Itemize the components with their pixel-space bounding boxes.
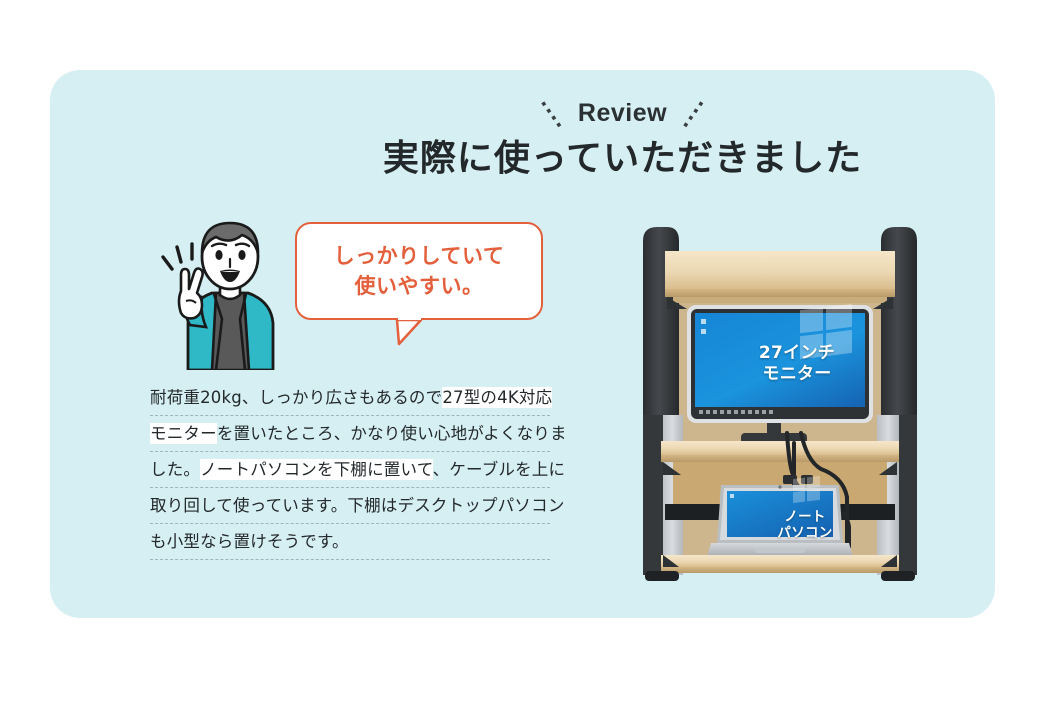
- eye-right: [238, 250, 245, 260]
- speech-bubble-tail: [397, 320, 423, 346]
- review-body-line-5: も小型なら置けそうです。: [150, 524, 550, 560]
- review-body-text: 耐荷重20kg、しっかり広さもあるので27型の4K対応 モニターを置いたところ、…: [150, 380, 550, 560]
- eye-left: [215, 250, 222, 260]
- review-body-line-1: 耐荷重20kg、しっかり広さもあるので27型の4K対応: [150, 380, 550, 416]
- review-label: Review: [578, 99, 667, 128]
- motion-lines-icon: [163, 244, 192, 269]
- body-text: を置いたところ、かなり使い心地がよくなりま: [217, 424, 567, 443]
- review-body-line-2: モニターを置いたところ、かなり使い心地がよくなりま: [150, 416, 550, 452]
- peace-sign-hand: [179, 269, 203, 319]
- reviewer-illustration: [150, 215, 310, 370]
- review-panel: Review 実際に使っていただきました: [50, 70, 995, 618]
- review-eyebrow: Review: [540, 98, 705, 128]
- lower-shelf: [661, 555, 899, 573]
- page-title: 実際に使っていただきました: [250, 137, 995, 180]
- review-body-line-4: 取り回して使っています。下棚はデスクトップパソコン: [150, 488, 550, 524]
- highlighted-text: モニター: [150, 423, 217, 444]
- review-header: Review 実際に使っていただきました: [50, 98, 995, 180]
- dotted-dashes-right-icon: [679, 98, 705, 128]
- body-text: 、ケーブルを上に: [433, 460, 566, 479]
- review-speech-bubble: しっかりしていて 使いやすい。: [295, 222, 543, 320]
- highlighted-text: ノートパソコンを下棚に置いて: [200, 459, 432, 480]
- foot-left: [645, 571, 679, 581]
- body-text: した。: [150, 460, 200, 479]
- monitor: [687, 304, 873, 444]
- top-shelf: [665, 251, 895, 303]
- body-text: 取り回して使っています。下棚はデスクトップパソコン: [150, 496, 565, 515]
- highlighted-text: 27型の4K対応: [442, 387, 552, 408]
- dotted-dashes-left-icon: [540, 98, 566, 128]
- laptop: [707, 476, 853, 557]
- review-body-line-3: した。ノートパソコンを下棚に置いて、ケーブルを上に: [150, 452, 550, 488]
- middle-desk: [661, 441, 899, 462]
- body-text: も小型なら置けそうです。: [150, 532, 349, 551]
- body-text: 耐荷重20kg、しっかり広さもあるので: [150, 388, 442, 407]
- foot-right: [881, 571, 915, 581]
- speech-bubble-text: しっかりしていて 使いやすい。: [334, 241, 505, 302]
- product-photo: 27インチ モニター ノート パソコン: [615, 175, 945, 595]
